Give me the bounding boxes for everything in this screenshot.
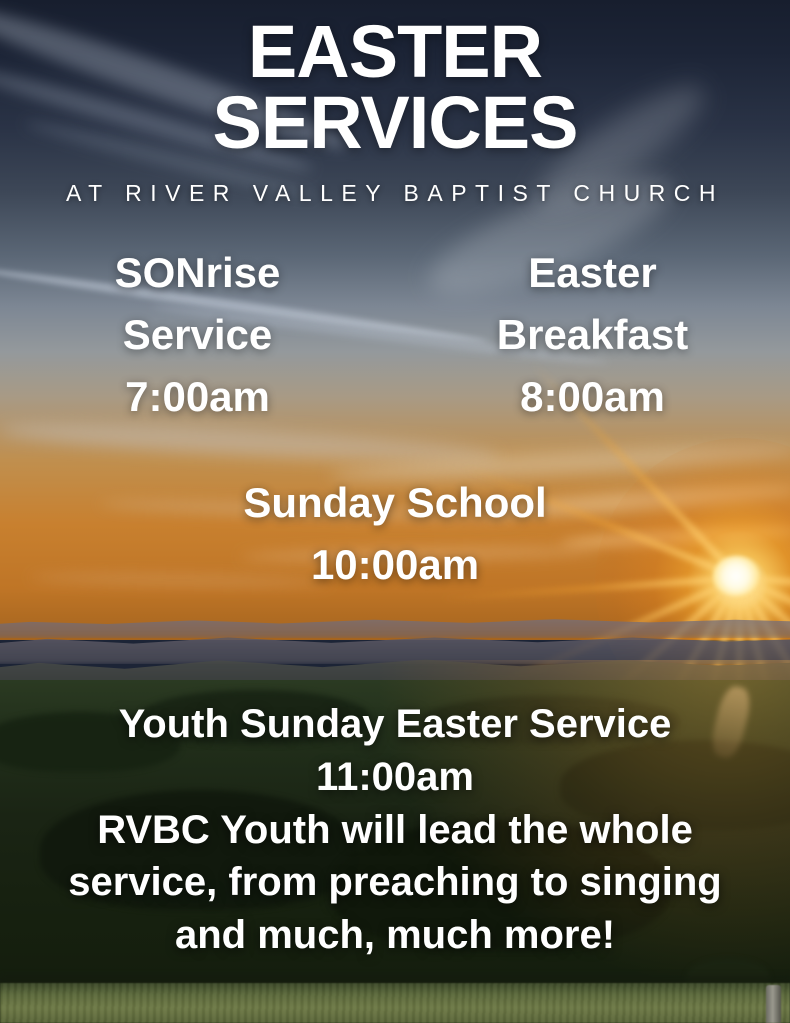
sonrise-line-1: SONrise xyxy=(0,242,395,304)
sonrise-time: 7:00am xyxy=(0,366,395,428)
youth-service-time: 11:00am xyxy=(0,751,790,804)
sunday-school-event: Sunday School 10:00am xyxy=(0,472,790,596)
title-line-1: EASTER xyxy=(0,16,790,87)
youth-service-block: Youth Sunday Easter Service 11:00am RVBC… xyxy=(0,698,790,962)
breakfast-line-2: Breakfast xyxy=(395,304,790,366)
church-name-subtitle: AT RIVER VALLEY BAPTIST CHURCH xyxy=(0,180,790,207)
easter-services-poster: EASTER SERVICES AT RIVER VALLEY BAPTIST … xyxy=(0,0,790,1023)
youth-service-label: Youth Sunday Easter Service xyxy=(0,698,790,751)
sunday-school-label: Sunday School xyxy=(0,472,790,534)
title-line-2: SERVICES xyxy=(0,87,790,158)
breakfast-line-1: Easter xyxy=(395,242,790,304)
schedule-column-sonrise: SONrise Service 7:00am xyxy=(0,242,395,428)
youth-description-line-2: service, from preaching to singing xyxy=(0,856,790,909)
youth-description-line-1: RVBC Youth will lead the whole xyxy=(0,804,790,857)
schedule-columns: SONrise Service 7:00am Easter Breakfast … xyxy=(0,242,790,428)
page-title: EASTER SERVICES xyxy=(0,16,790,158)
breakfast-time: 8:00am xyxy=(395,366,790,428)
poster-text-overlay: EASTER SERVICES AT RIVER VALLEY BAPTIST … xyxy=(0,0,790,1023)
youth-description-line-3: and much, much more! xyxy=(0,909,790,962)
sonrise-line-2: Service xyxy=(0,304,395,366)
schedule-column-breakfast: Easter Breakfast 8:00am xyxy=(395,242,790,428)
sunday-school-time: 10:00am xyxy=(0,534,790,596)
